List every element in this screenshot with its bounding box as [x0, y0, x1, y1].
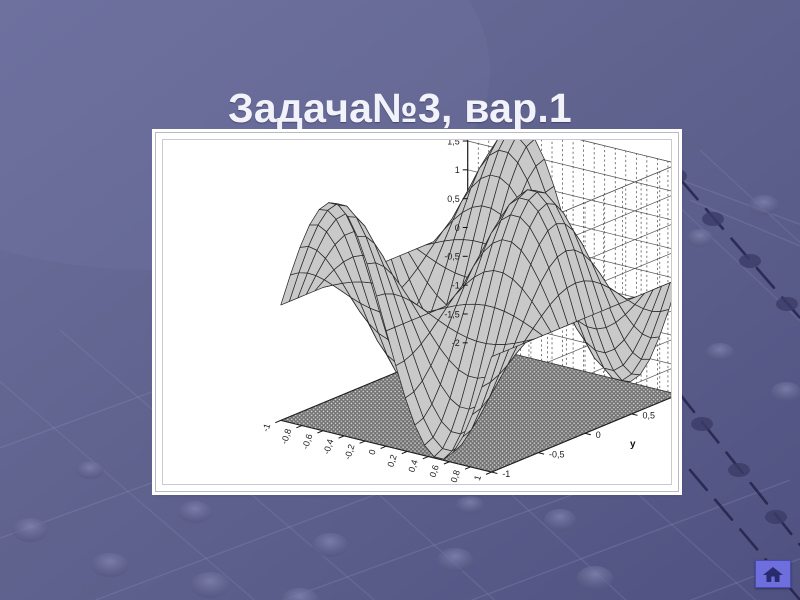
- chart-plot-area: 21,510,50-0,5-1-1,5-2z-1-0,8-0,6-0,4-0,2…: [162, 139, 672, 485]
- y-axis-label: y: [630, 439, 636, 450]
- home-button[interactable]: [755, 560, 791, 588]
- z-tick-label: 0,5: [447, 194, 459, 204]
- y-tick-label: -1: [502, 469, 510, 479]
- z-tick-label: -1,5: [444, 309, 459, 319]
- y-tick-label: 0: [596, 430, 601, 440]
- z-tick-label: 1: [455, 165, 460, 175]
- z-tick-label: 1,5: [447, 140, 459, 146]
- z-tick-label: 0: [455, 223, 460, 233]
- z-tick-label: -0,5: [444, 252, 459, 262]
- y-tick-label: 0,5: [643, 411, 655, 421]
- page-title: Задача№3, вар.1: [0, 87, 800, 130]
- surface-plot-svg: 21,510,50-0,5-1-1,5-2z-1-0,8-0,6-0,4-0,2…: [163, 140, 671, 484]
- z-tick-label: -2: [452, 338, 460, 348]
- chart-picture-frame: 21,510,50-0,5-1-1,5-2z-1-0,8-0,6-0,4-0,2…: [155, 132, 679, 492]
- z-tick-label: -1: [452, 280, 460, 290]
- home-icon: [762, 566, 784, 583]
- y-tick-label: -0,5: [549, 449, 564, 459]
